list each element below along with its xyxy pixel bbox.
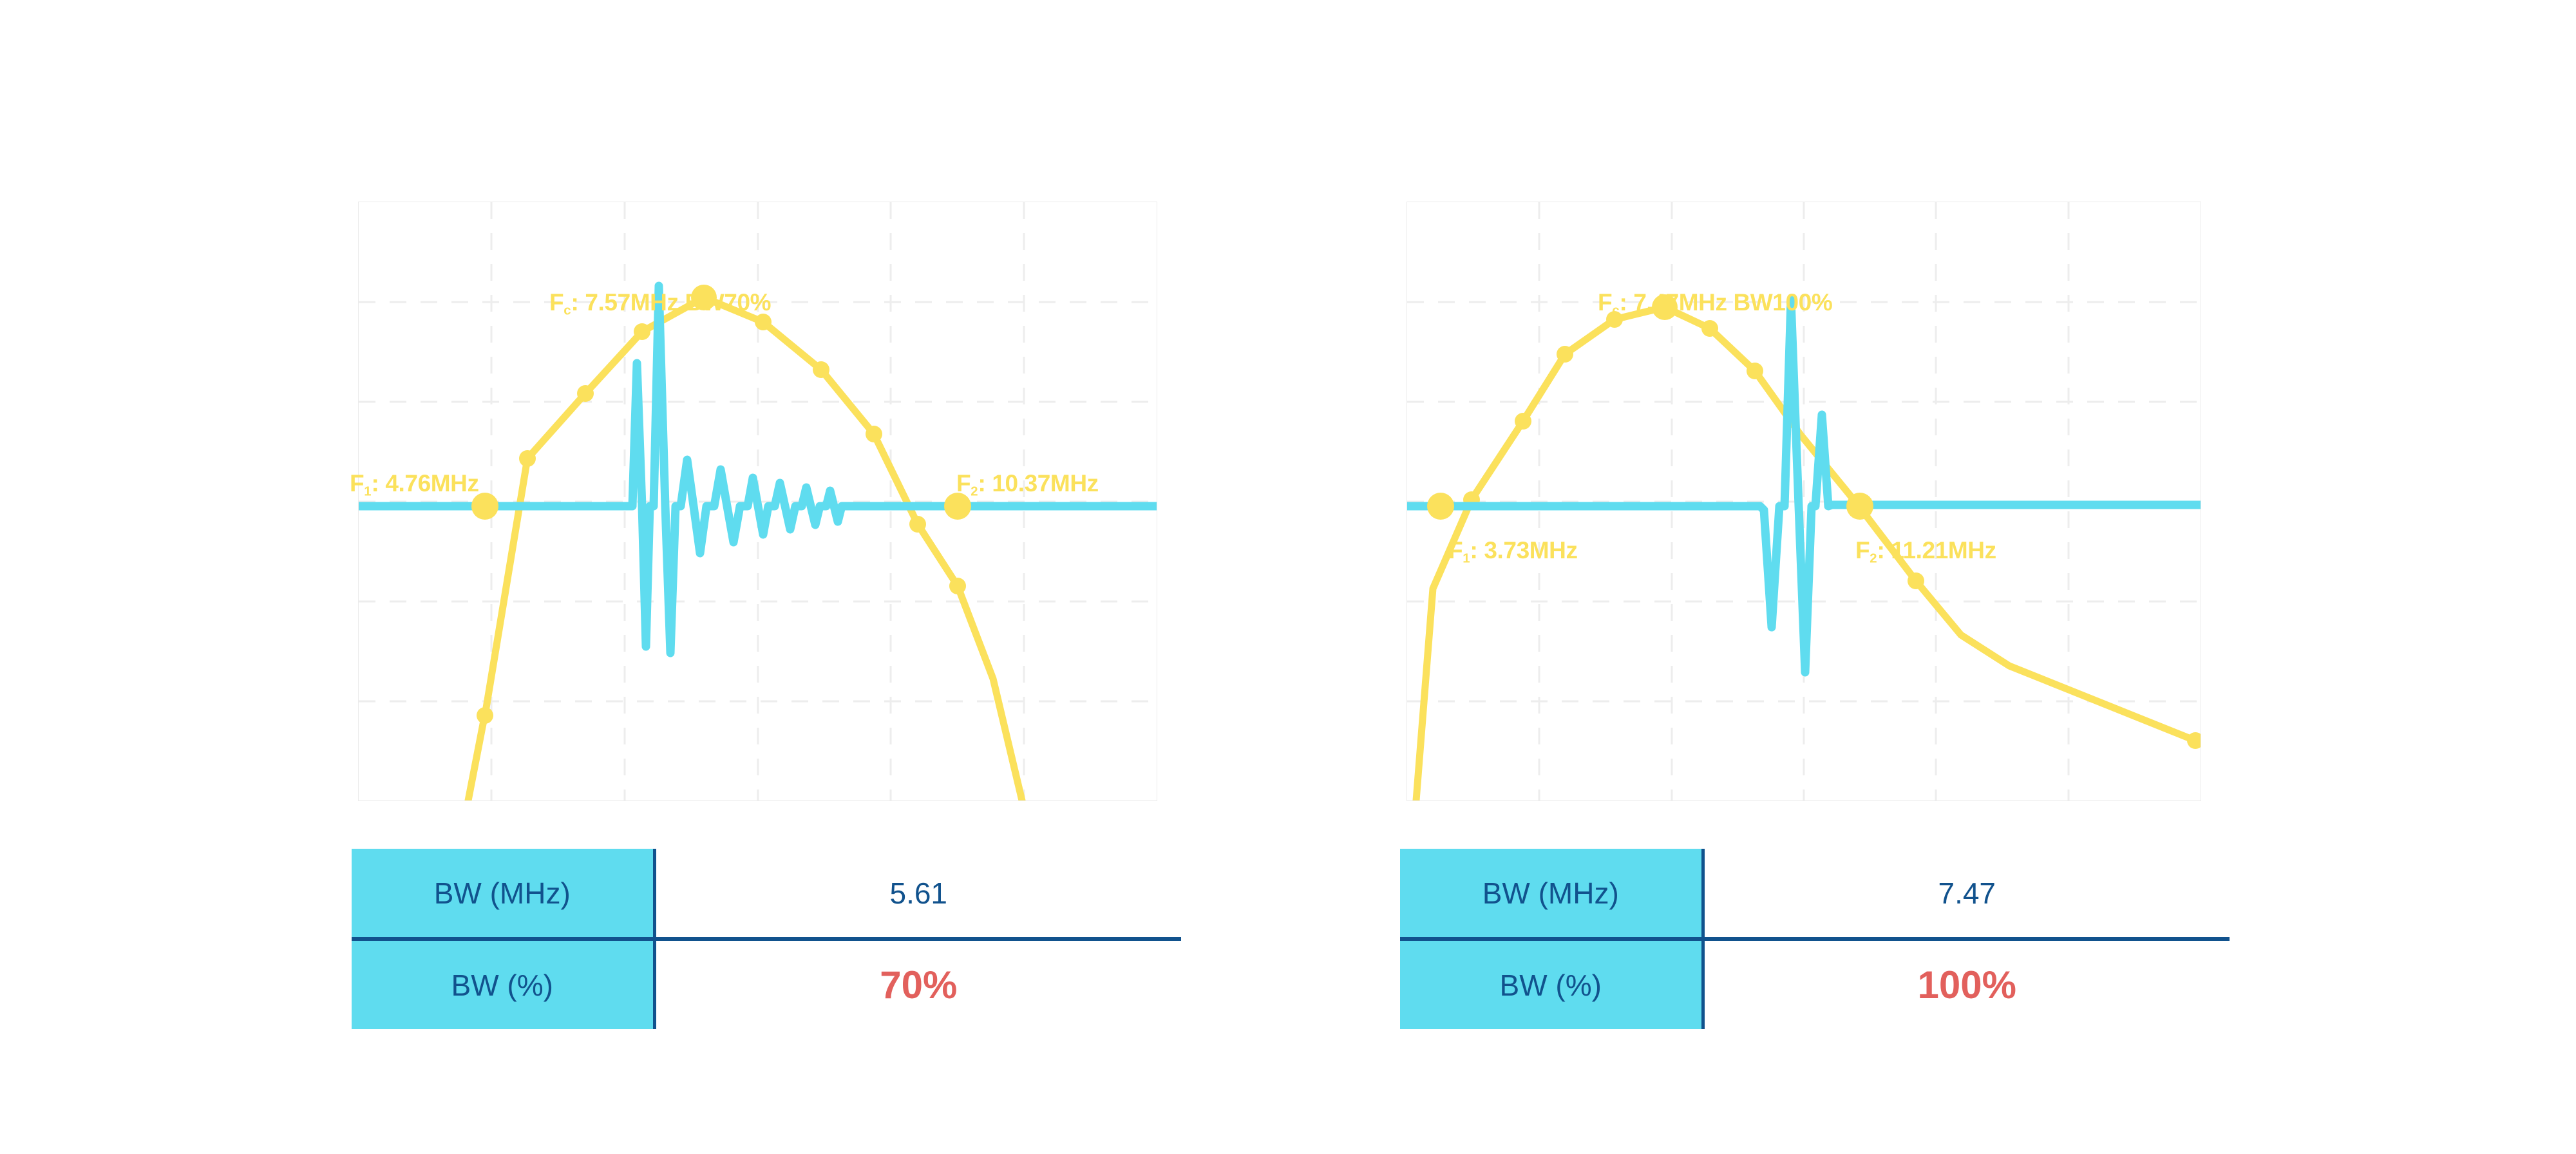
spectrum-markers-right [1463,294,2201,749]
chart-frame-left: Fc: 7.57MHz BW70% F1: 4.76MHz F2: 10.37M… [358,202,1157,801]
annotation-f2-right-prefix: F [1855,537,1870,563]
annotation-f1-right-sub: 1 [1463,552,1470,566]
annotation-f1-left-prefix: F [350,470,364,497]
table-row: BW (MHz) 5.61 [352,849,1181,939]
table-row: BW (%) 100% [1400,939,2230,1029]
annotation-center-left-prefix: F [549,289,563,316]
annotation-center-right-prefix: F [1598,289,1612,316]
bw-pct-value-right: 100% [1703,939,2230,1029]
table-row: BW (%) 70% [352,939,1181,1029]
annotation-f2-right: F2: 11.21MHz [1855,538,1996,565]
annotation-f2-left-sub: 2 [971,485,978,499]
spectrum-curve-left [468,285,1022,800]
bw-mhz-value-right: 7.47 [1703,849,2230,939]
bw-pct-value-left: 70% [654,939,1181,1029]
bw-table-right: BW (MHz) 7.47 BW (%) 100% [1400,849,2230,1029]
bw-mhz-label-right: BW (MHz) [1400,849,1703,939]
annotation-f2-left-text: : 10.37MHz [978,470,1099,497]
panel-right: Fc: 7.47MHz BW100% F1: 3.73MHz F2: 11.21… [1406,202,2201,801]
annotation-f1-right-prefix: F [1448,537,1463,563]
annotation-f1-left-sub: 1 [364,485,371,499]
annotation-f1-right: F1: 3.73MHz [1448,538,1578,565]
annotation-f1-left-text: : 4.76MHz [372,470,479,497]
bw-mhz-value-left: 5.61 [654,849,1181,939]
annotation-center-right: Fc: 7.47MHz BW100% [1598,290,1832,317]
annotation-f2-left: F2: 10.37MHz [956,471,1099,498]
bw-pct-label-right: BW (%) [1400,939,1703,1029]
panel-left: Fc: 7.57MHz BW70% F1: 4.76MHz F2: 10.37M… [358,202,1157,801]
table-row: BW (MHz) 7.47 [1400,849,2230,939]
annotation-center-right-sub: c [1612,304,1619,318]
chart-frame-right: Fc: 7.47MHz BW100% F1: 3.73MHz F2: 11.21… [1406,202,2201,801]
annotation-f2-left-prefix: F [956,470,971,497]
annotation-f2-right-sub: 2 [1870,552,1877,566]
annotation-f1-left: F1: 4.76MHz [350,471,479,498]
annotation-center-left-text: : 7.57MHz BW70% [571,289,772,316]
annotation-center-right-text: : 7.47MHz BW100% [1620,289,1833,316]
bw-mhz-label-left: BW (MHz) [352,849,654,939]
annotation-center-left-sub: c [563,304,571,318]
annotation-f2-right-text: : 11.21MHz [1877,537,1996,563]
annotation-center-left: Fc: 7.57MHz BW70% [549,290,771,317]
bw-pct-label-left: BW (%) [352,939,654,1029]
annotation-f1-right-text: : 3.73MHz [1470,537,1578,563]
bw-table-left: BW (MHz) 5.61 BW (%) 70% [352,849,1181,1029]
